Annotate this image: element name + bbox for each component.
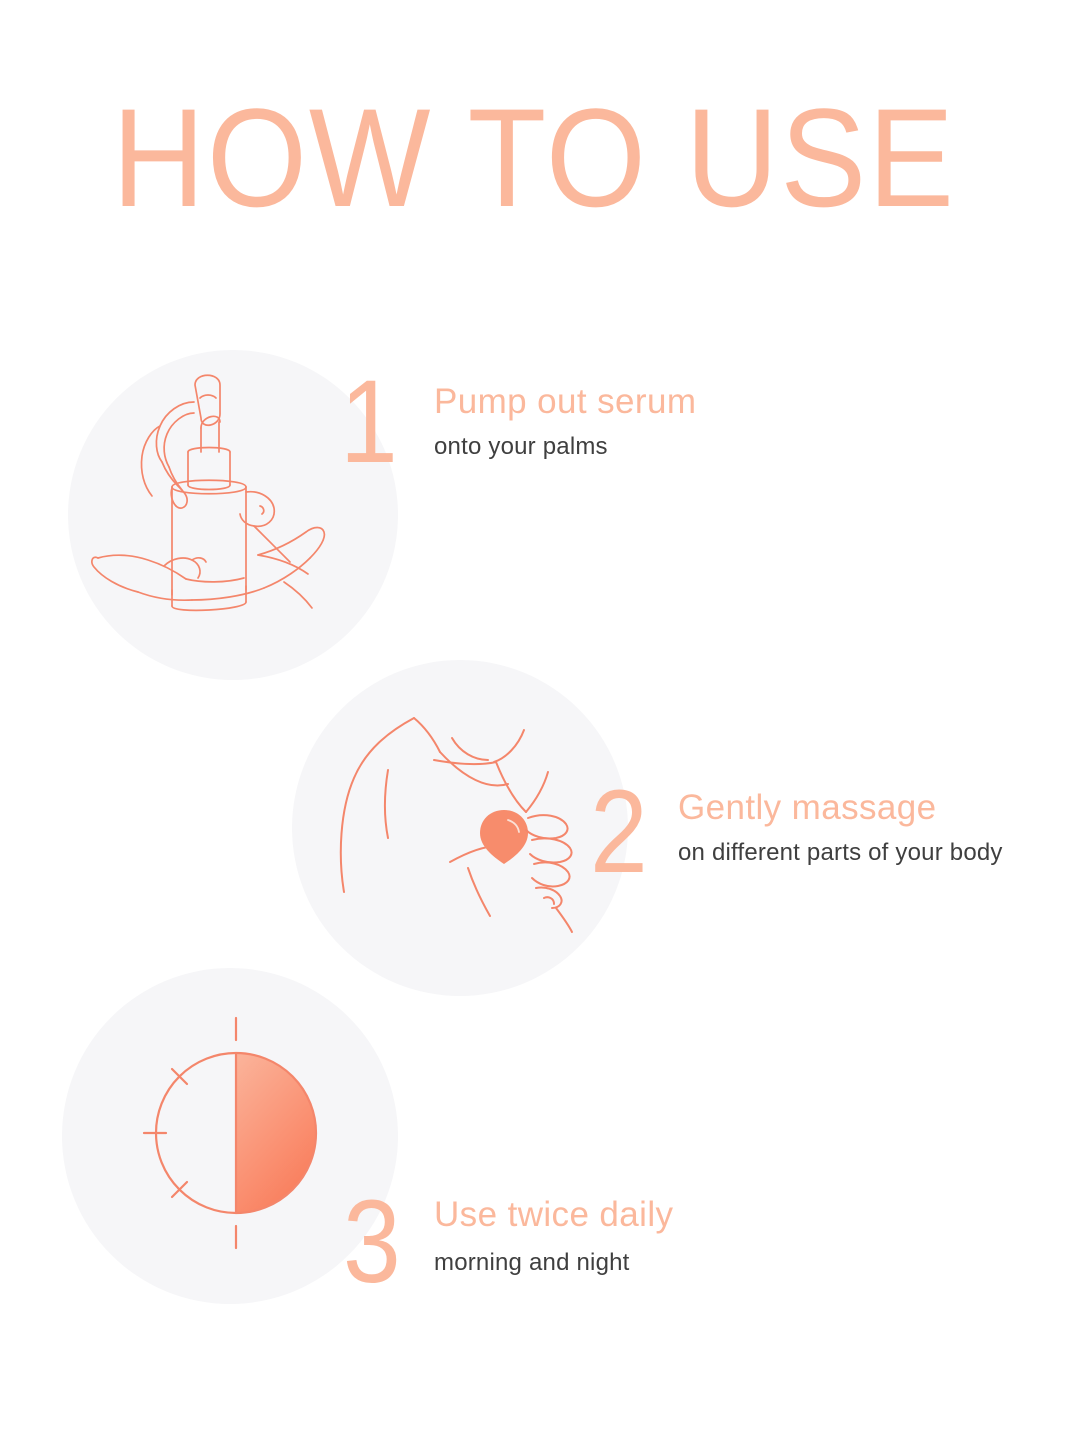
step-1-heading: Pump out serum: [434, 384, 696, 419]
how-to-use-infographic: HOW TO USE: [0, 0, 1080, 1440]
step-1-number: 1: [340, 363, 398, 481]
step-2-heading: Gently massage: [678, 790, 937, 825]
step-2-subtext: on different parts of your body: [678, 841, 1003, 865]
step-2-circle-background: [292, 660, 628, 996]
step-3-heading: Use twice daily: [434, 1197, 673, 1232]
step-1-subtext: onto your palms: [434, 435, 608, 459]
step-3-subtext: morning and night: [434, 1251, 630, 1275]
step-2-number: 2: [590, 773, 648, 891]
step-3-number: 3: [343, 1183, 401, 1301]
page-title: HOW TO USE: [112, 88, 956, 228]
